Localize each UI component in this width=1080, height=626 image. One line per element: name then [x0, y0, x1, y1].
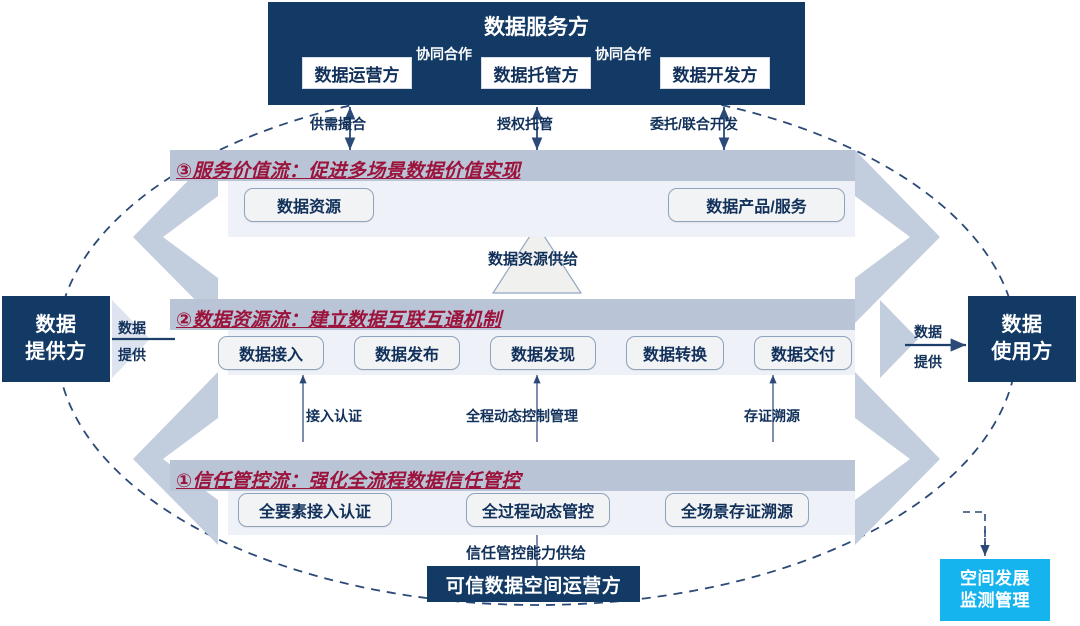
data-consumer-box[interactable]: 数据 使用方 [968, 296, 1076, 382]
data-resource-supply-label: 数据资源供给 [488, 248, 578, 269]
trust-link-label-dynamic-control: 全程动态控制管理 [466, 406, 578, 426]
banner-title: 数据服务方 [268, 11, 805, 41]
trust-link-label-evidence-trace: 存证溯源 [744, 406, 800, 426]
data-consumer-line1: 数据 [991, 312, 1053, 339]
node-full-element-access-auth[interactable]: 全要素接入认证 [238, 493, 392, 527]
node-full-process-dynamic-control[interactable]: 全过程动态管控 [466, 493, 610, 527]
flow1-title: ①信任管控流：强化全流程数据信任管控 [176, 466, 521, 493]
node-data-discovery[interactable]: 数据发现 [490, 336, 596, 370]
service-link-label-matching: 供需撮合 [310, 114, 366, 134]
data-service-provider-banner: 数据服务方 数据运营方 数据托管方 数据开发方 协同合作 协同合作 [268, 2, 805, 105]
flow3-title-text: 服务价值流：促进多场景数据价值实现 [192, 161, 520, 182]
flow3-number: ③ [176, 161, 192, 182]
cooperation-label-1: 协同合作 [416, 44, 472, 64]
monitor-line1: 空间发展 [960, 568, 1030, 590]
consumer-arrow-label-line2: 提供 [914, 352, 942, 372]
node-full-scenario-evidence-trace[interactable]: 全场景存证溯源 [665, 493, 809, 527]
node-data-resource[interactable]: 数据资源 [244, 188, 374, 222]
monitor-line2: 监测管理 [960, 590, 1030, 612]
node-data-transform[interactable]: 数据转换 [626, 336, 724, 370]
data-provider-line2: 提供方 [25, 339, 87, 366]
flow2-title: ②数据资源流：建立数据互联互通机制 [176, 305, 501, 332]
flow2-number: ② [176, 310, 192, 331]
node-data-delivery[interactable]: 数据交付 [754, 336, 852, 370]
space-development-monitoring-box[interactable]: 空间发展 监测管理 [940, 559, 1050, 621]
node-data-access[interactable]: 数据接入 [218, 336, 324, 370]
service-link-label-authorized-custody: 授权托管 [497, 114, 553, 134]
data-provider-line1: 数据 [25, 312, 87, 339]
service-box-data-operator[interactable]: 数据运营方 [302, 57, 412, 89]
service-box-data-custodian[interactable]: 数据托管方 [481, 57, 591, 89]
trust-capability-supply-label: 信任管控能力供给 [466, 542, 586, 563]
service-link-label-joint-development: 委托/联合开发 [650, 114, 738, 134]
flow1-title-text: 信任管控流：强化全流程数据信任管控 [192, 471, 520, 492]
node-data-publish[interactable]: 数据发布 [354, 336, 460, 370]
node-data-product-service[interactable]: 数据产品/服务 [668, 188, 845, 222]
provider-arrow-label-line1: 数据 [118, 318, 146, 338]
flow3-title: ③服务价值流：促进多场景数据价值实现 [176, 156, 521, 183]
consumer-arrow-label-line1: 数据 [914, 322, 942, 342]
flow1-number: ① [176, 471, 192, 492]
provider-arrow-label-line2: 提供 [118, 345, 146, 365]
cooperation-label-2: 协同合作 [595, 44, 651, 64]
data-consumer-line2: 使用方 [991, 339, 1053, 366]
diagram-canvas: 数据服务方 数据运营方 数据托管方 数据开发方 协同合作 协同合作 供需撮合 授… [0, 0, 1080, 626]
service-box-data-developer[interactable]: 数据开发方 [660, 57, 770, 89]
data-provider-box[interactable]: 数据 提供方 [2, 296, 110, 382]
flow2-title-text: 数据资源流：建立数据互联互通机制 [192, 310, 501, 331]
trust-link-label-access-auth: 接入认证 [306, 406, 362, 426]
trusted-data-space-operator-box[interactable]: 可信数据空间运营方 [427, 566, 640, 602]
